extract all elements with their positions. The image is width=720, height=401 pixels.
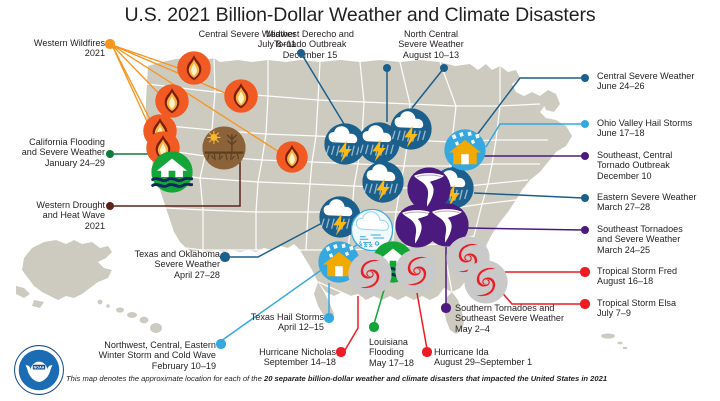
event-label-southeast-tornadoes: Southeast Tornadoes and Severe Weather M… xyxy=(597,224,683,255)
event-label-eastern-severe-weather: Eastern Severe Weather March 27–28 xyxy=(597,192,696,213)
event-label-tropical-storm-fred: Tropical Storm Fred August 16–18 xyxy=(597,266,677,287)
wildfire-icon[interactable] xyxy=(276,141,308,173)
flooding-icon[interactable] xyxy=(151,151,193,193)
wildfire-icon[interactable] xyxy=(155,84,189,118)
event-label-louisiana-flooding: Louisiana Flooding May 17–18 xyxy=(369,337,414,368)
event-label-texas-oklahoma-severe-weather: Texas and Oklahoma Severe Weather April … xyxy=(135,249,220,280)
leader-dot-western-wildfires[interactable] xyxy=(105,39,114,48)
leader-ts-elsa xyxy=(498,288,583,304)
leader-ohio-valley-hail xyxy=(486,124,583,147)
event-label-northwest-central-eastern-winter-storm: Northwest, Central, Eastern Winter Storm… xyxy=(99,340,216,371)
event-label-north-central-severe-weather: North Central Severe Weather August 10–1… xyxy=(398,29,464,60)
leader-dot-hurricane-ida[interactable] xyxy=(422,347,431,356)
leader-dot-tropical-storm-fred[interactable] xyxy=(580,267,589,276)
event-label-southeast-central-tornado: Southeast, Central Tornado Outbreak Dece… xyxy=(597,150,672,181)
leader-dot-texas-hail-storms[interactable] xyxy=(324,313,333,322)
event-label-central-severe-weather-june: Central Severe Weather June 24–26 xyxy=(597,71,694,92)
event-label-hurricane-ida: Hurricane Ida August 29–September 1 xyxy=(434,347,532,368)
leader-texas-oklahoma xyxy=(229,222,324,257)
leader-southeast-tornadoes xyxy=(468,228,583,230)
event-label-western-drought: Western Drought and Heat Wave 2021 xyxy=(36,200,105,231)
severe-storm-icon[interactable] xyxy=(362,161,404,203)
event-label-california-flooding: California Flooding and Severe Weather J… xyxy=(22,137,105,168)
event-label-southern-tornadoes: Southern Tornadoes and Southeast Severe … xyxy=(455,303,564,334)
event-label-texas-hail-storms: Texas Hail Storms April 12–15 xyxy=(251,312,324,333)
event-label-hurricane-nicholas: Hurricane Nicholas September 14–18 xyxy=(259,347,336,368)
tropical-cyclone-icon[interactable] xyxy=(395,249,439,293)
wildfire-icon[interactable] xyxy=(177,51,211,85)
noaa-wordmark: NOAA xyxy=(34,366,45,370)
tropical-cyclone-icon[interactable] xyxy=(348,252,392,296)
hail-icon[interactable] xyxy=(444,129,486,171)
event-label-midwest-derecho: Midwest Derecho and Tornado Outbreak Dec… xyxy=(266,29,354,60)
event-label-western-wildfires: Western Wildfires 2021 xyxy=(34,38,105,59)
leader-hurricane-nicholas xyxy=(345,296,358,350)
event-label-ohio-valley-hail: Ohio Valley Hail Storms June 17–18 xyxy=(597,118,692,139)
leader-eastern-severe xyxy=(474,193,583,198)
leader-hurricane-ida xyxy=(417,293,427,349)
event-label-tropical-storm-elsa: Tropical Storm Elsa July 7–9 xyxy=(597,298,676,319)
leader-dot-northwest-central-eastern-winter-storm[interactable] xyxy=(216,339,225,348)
wildfire-icon[interactable] xyxy=(224,79,258,113)
leader-central-severe-july xyxy=(301,53,344,124)
leader-dot-southern-tornadoes[interactable] xyxy=(441,303,450,312)
leader-dot-tropical-storm-elsa[interactable] xyxy=(580,299,589,308)
leader-north-central xyxy=(412,68,444,108)
leader-dot-texas-oklahoma-severe-weather[interactable] xyxy=(220,252,229,261)
leader-dot-louisiana-flooding[interactable] xyxy=(369,322,378,331)
leader-dot-hurricane-nicholas[interactable] xyxy=(336,347,345,356)
drought-icon[interactable] xyxy=(202,126,246,170)
severe-storm-icon[interactable] xyxy=(390,108,432,150)
noaa-logo: NOAA xyxy=(13,344,65,396)
tropical-cyclone-icon[interactable] xyxy=(464,260,508,304)
